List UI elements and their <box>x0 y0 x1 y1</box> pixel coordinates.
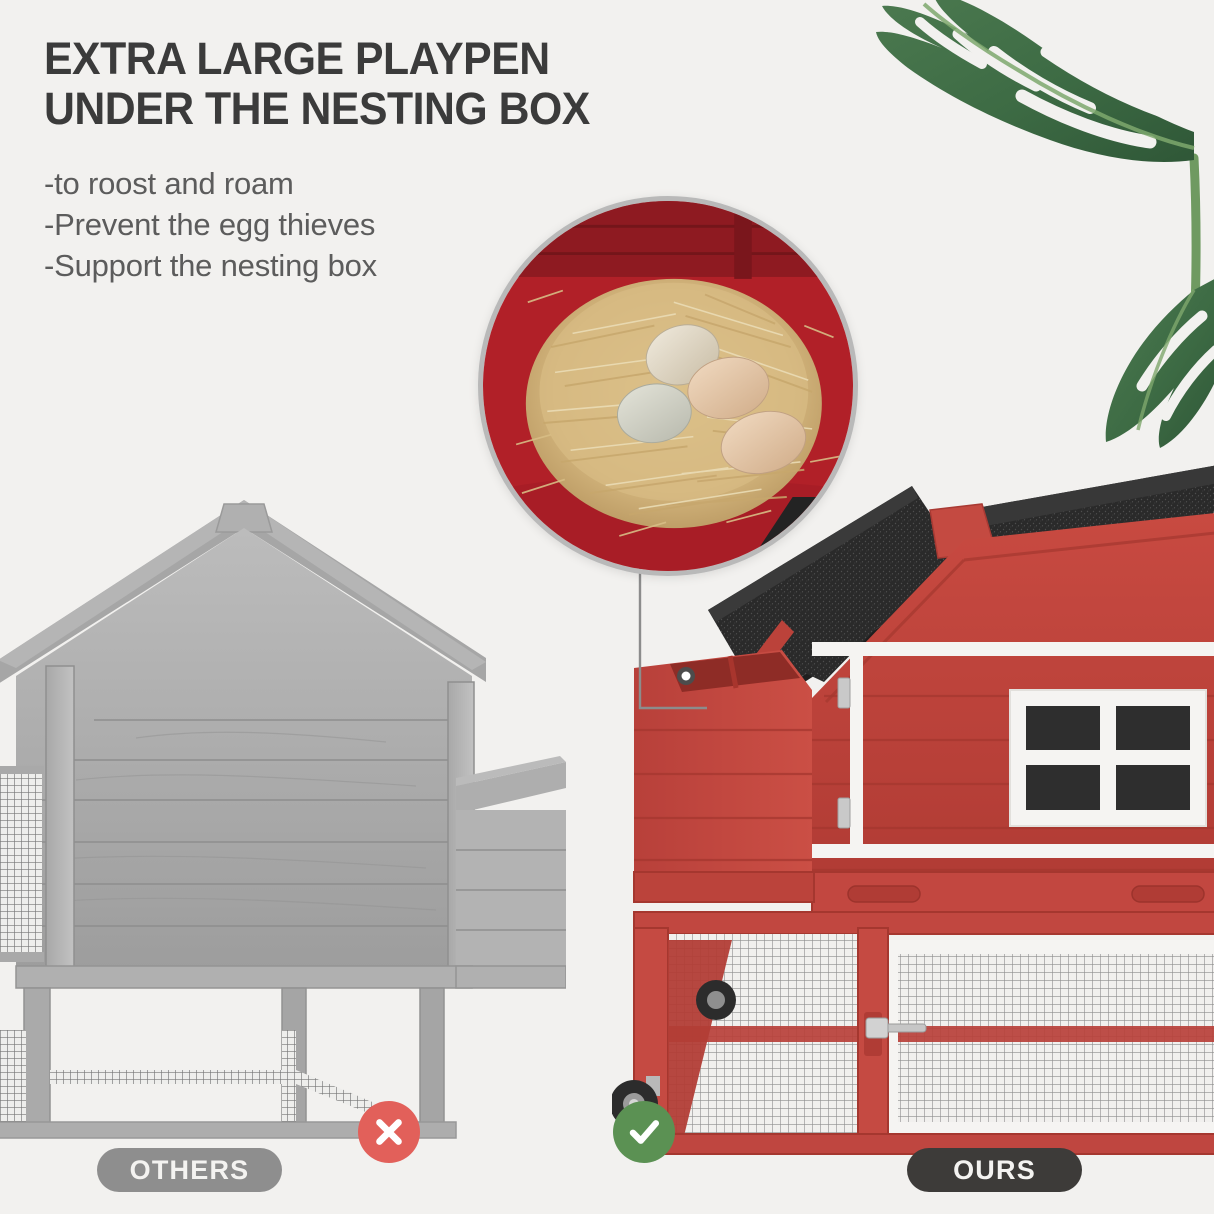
feature-list: -to roost and roam -Prevent the egg thie… <box>44 163 564 287</box>
caster-wheel-rear <box>696 980 736 1020</box>
feature-item-2: -Prevent the egg thieves <box>44 204 564 245</box>
page-title: EXTRA LARGE PLAYPEN UNDER THE NESTING BO… <box>44 34 747 133</box>
others-label-badge: OTHERS <box>97 1148 282 1192</box>
nesting-box-closeup-inset <box>478 196 858 576</box>
cross-icon <box>358 1101 420 1163</box>
pullout-tray <box>634 872 1214 916</box>
feature-item-1: -to roost and roam <box>44 163 564 204</box>
extra-large-playpen <box>612 912 1214 1154</box>
headline-line-2: UNDER THE NESTING BOX <box>44 84 747 134</box>
coop-window <box>1010 690 1206 826</box>
feature-item-3: -Support the nesting box <box>44 245 564 286</box>
marketing-banner: EXTRA LARGE PLAYPEN UNDER THE NESTING BO… <box>0 0 1214 1214</box>
ours-label-badge: OURS <box>907 1148 1082 1192</box>
nesting-box <box>634 650 812 890</box>
headline-line-1: EXTRA LARGE PLAYPEN <box>44 34 747 84</box>
check-icon <box>613 1101 675 1163</box>
monstera-leaf-decoration <box>850 0 1214 470</box>
competitor-coop-image <box>0 470 566 1140</box>
